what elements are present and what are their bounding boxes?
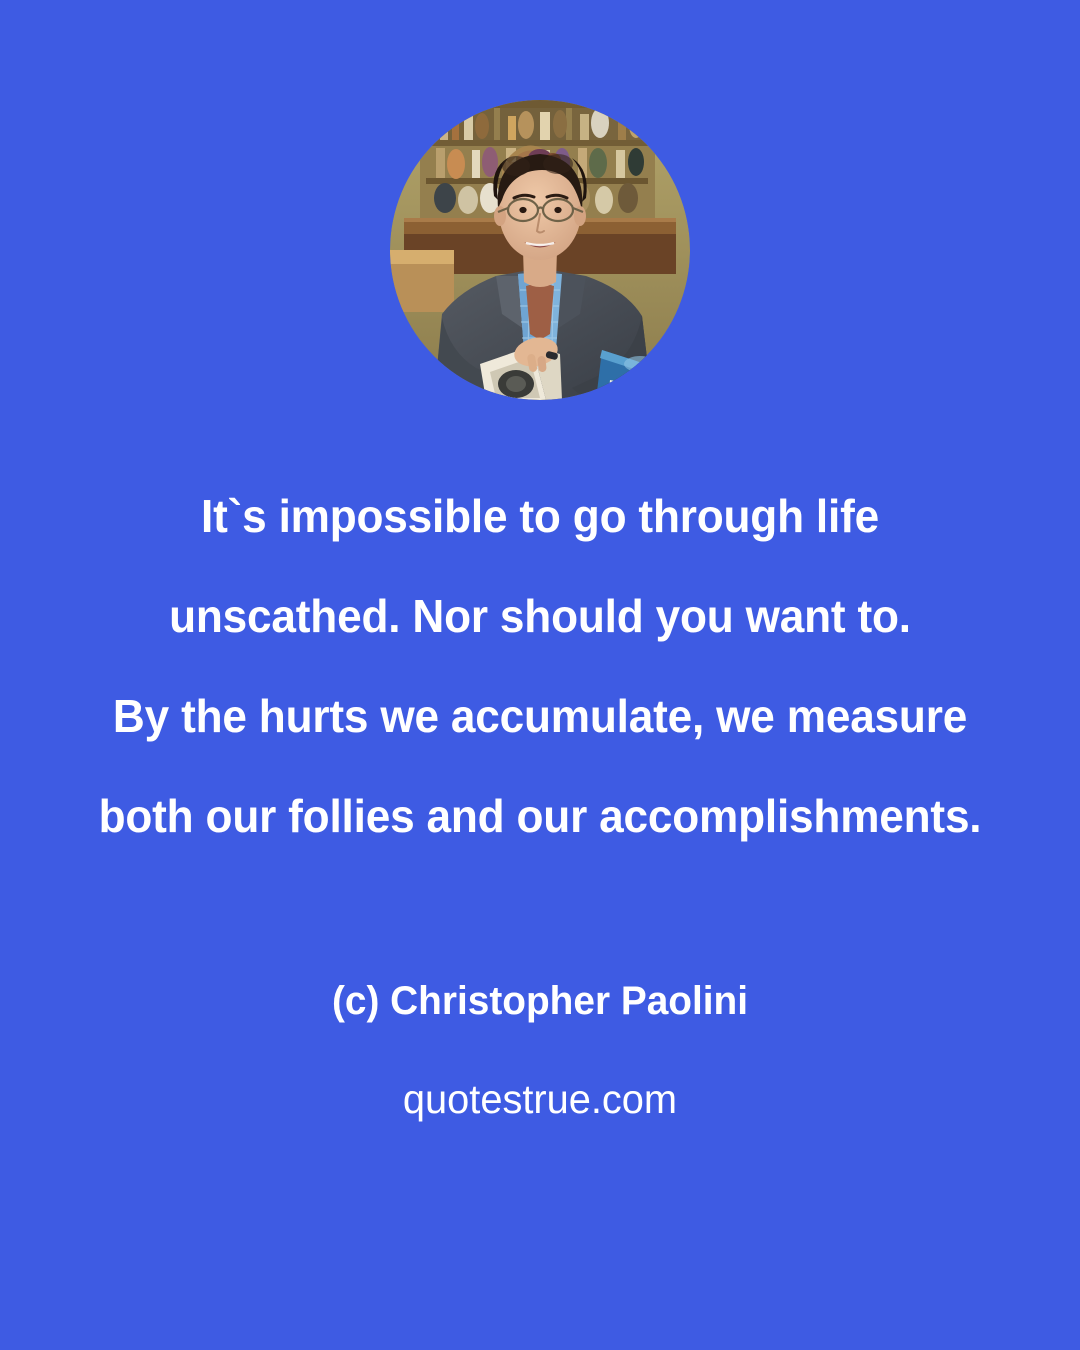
quote-text: It`s impossible to go through life unsca…	[0, 466, 1080, 866]
source-website: quotestrue.com	[16, 1073, 1064, 1125]
quote-attribution: (c) Christopher Paolini	[16, 975, 1064, 1027]
quote-card: It`s impossible to go through life unsca…	[0, 0, 1080, 1350]
quote-line-1: It`s impossible to go through life	[22, 466, 1059, 566]
author-portrait-image	[390, 100, 690, 400]
quote-line-2: unscathed. Nor should you want to.	[22, 566, 1059, 666]
quote-line-4: both our follies and our accomplishments…	[22, 766, 1059, 866]
quote-line-3: By the hurts we accumulate, we measure	[22, 666, 1059, 766]
author-portrait	[390, 100, 690, 400]
